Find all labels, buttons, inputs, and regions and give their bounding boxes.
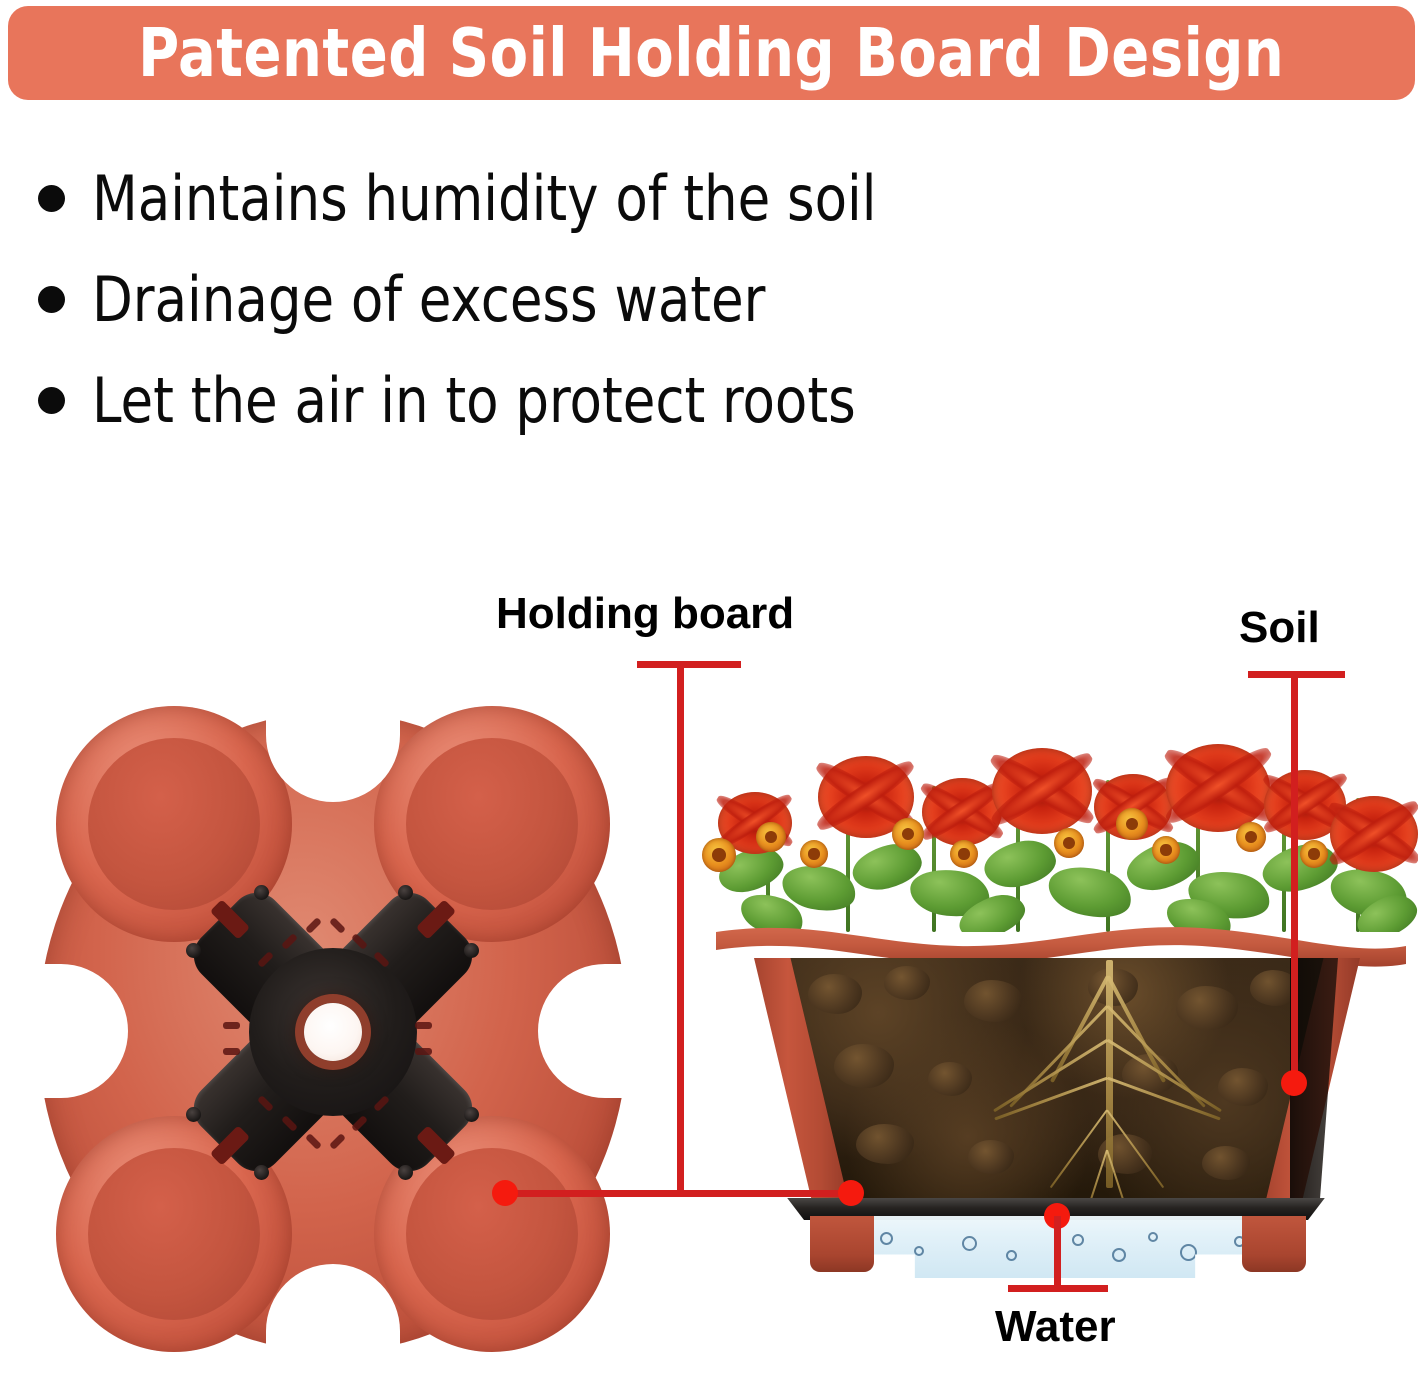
board-perforation: [415, 1048, 432, 1055]
holding-board-leader-tbar: [637, 661, 741, 668]
soil-pointer-dot: [1281, 1070, 1307, 1096]
board-stud: [254, 1165, 269, 1180]
holding-board-pointer-dot-left: [492, 1180, 518, 1206]
chrysanthemum-plants: [696, 700, 1418, 932]
soil-holding-board: [168, 867, 498, 1197]
feature-text: Let the air in to protect roots: [92, 370, 856, 432]
feature-text: Maintains humidity of the soil: [92, 168, 876, 230]
drain-hole: [304, 1003, 362, 1061]
flower-bud: [1236, 822, 1266, 852]
board-stud: [398, 885, 413, 900]
soil-layer: [778, 958, 1336, 1206]
flower-bud: [1300, 840, 1328, 868]
flower: [992, 748, 1092, 834]
feature-text: Drainage of excess water: [92, 269, 765, 331]
quatrefoil-planter-top-view: [38, 712, 628, 1352]
board-perforation: [329, 917, 346, 934]
board-perforation: [223, 1048, 240, 1055]
list-item: Drainage of excess water: [38, 249, 1138, 350]
list-item: Let the air in to protect roots: [38, 350, 1138, 451]
flower-bud: [1152, 836, 1180, 864]
flower-bud: [800, 840, 828, 868]
header-banner: Patented Soil Holding Board Design: [8, 6, 1415, 100]
callout-label-soil: Soil: [1239, 606, 1320, 650]
board-stud: [398, 1165, 413, 1180]
flower-bud: [1054, 828, 1084, 858]
water-leader-tbar: [1008, 1285, 1108, 1292]
page-title: Patented Soil Holding Board Design: [138, 20, 1284, 87]
board-stud: [254, 885, 269, 900]
feature-list: Maintains humidity of the soil Drainage …: [38, 148, 1138, 451]
board-stud: [464, 943, 479, 958]
flower: [1330, 796, 1418, 872]
leaf: [1258, 838, 1342, 898]
bullet-icon: [38, 387, 65, 414]
holding-board-pointer-dot-right: [838, 1180, 864, 1206]
holding-board-leader-stem: [677, 661, 684, 1194]
board-perforation: [223, 1022, 240, 1029]
callout-label-holding-board: Holding board: [496, 592, 794, 636]
flower-bud: [702, 838, 736, 872]
water-leader-stem: [1054, 1216, 1061, 1291]
flower-bud: [1116, 808, 1148, 840]
flower-bud: [950, 840, 978, 868]
flower: [922, 778, 1002, 846]
flower-bud: [892, 818, 924, 850]
list-item: Maintains humidity of the soil: [38, 148, 1138, 249]
bullet-icon: [38, 185, 65, 212]
flower: [1166, 744, 1270, 832]
board-perforation: [305, 1133, 322, 1150]
flower-bud: [756, 822, 786, 852]
bullet-icon: [38, 286, 65, 313]
holding-board-leader-line: [505, 1190, 857, 1197]
soil-leader-stem: [1291, 671, 1298, 1083]
pot-foot: [1242, 1216, 1306, 1272]
pot-foot: [810, 1216, 874, 1272]
callout-label-water: Water: [995, 1305, 1116, 1349]
plant-roots: [984, 960, 1234, 1200]
board-perforation: [305, 917, 322, 934]
board-perforation: [415, 1022, 432, 1029]
board-stud: [186, 1107, 201, 1122]
board-stud: [464, 1107, 479, 1122]
board-stud: [186, 943, 201, 958]
board-perforation: [329, 1133, 346, 1150]
